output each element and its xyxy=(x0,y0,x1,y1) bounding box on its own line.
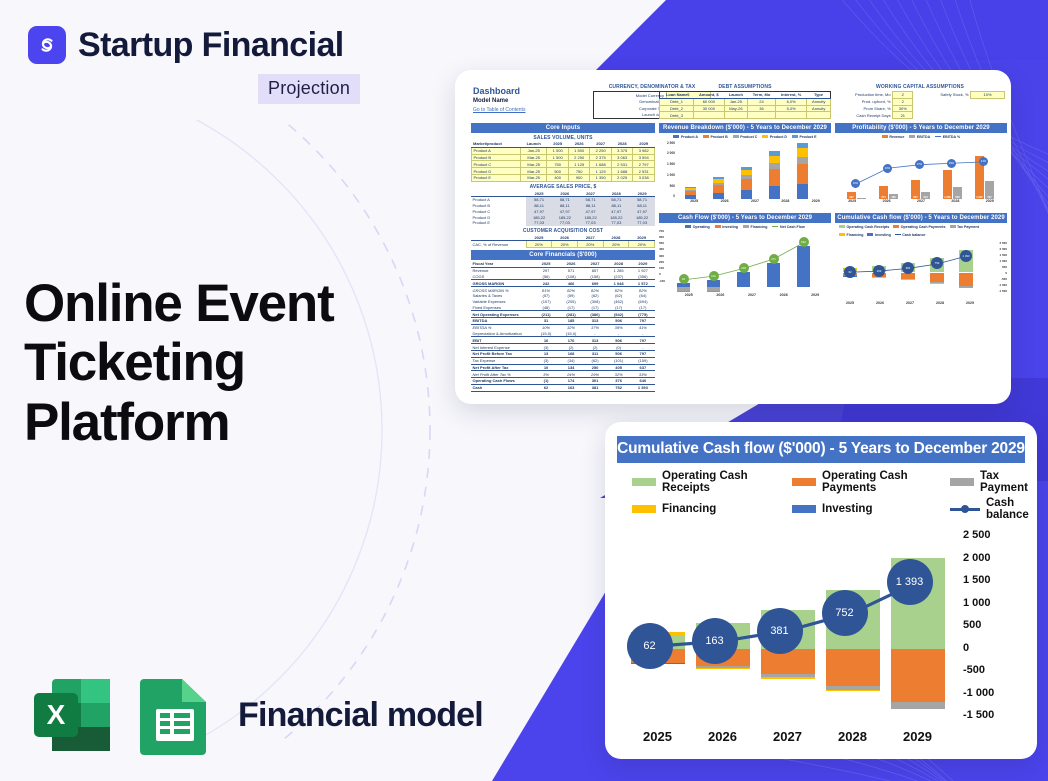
sales-volume-table: Market/product Launch 20252026 20272028 … xyxy=(471,141,655,182)
x-tick-label: 2029 xyxy=(891,729,945,744)
data-label-bubble: 640 xyxy=(799,237,809,247)
chart-y-axis: 2 5002 0001 5001 0005000-500-1 000-1 500 xyxy=(953,529,1025,721)
table-row: Debt_160 000 Jan-2524 6,0%Annuity xyxy=(660,98,831,105)
table-row: Cash621633817521 393 xyxy=(471,384,655,391)
bar-segment xyxy=(713,193,724,199)
x-tick-label: 2026 xyxy=(696,729,750,744)
profitability-chart[interactable]: Profitability ($'000) - 5 Years to Decem… xyxy=(835,123,1007,203)
bar-stack xyxy=(741,167,752,199)
table-row: Prod. upfront, %2 xyxy=(835,98,1005,105)
bar-segment xyxy=(891,702,945,710)
dashboard-title: Dashboard xyxy=(473,86,520,96)
microsoft-excel-icon: X xyxy=(26,669,118,761)
table-row: Net Profit After Tax10134250405637 xyxy=(471,364,655,371)
chart-legend: Operating Cash Receipts Operating Cash P… xyxy=(632,470,1025,521)
data-label-bubble: 381 xyxy=(902,262,914,274)
table-row: Operating Cash Flows(1)174301376640 xyxy=(471,378,655,385)
y-tick-label: 500 xyxy=(963,619,1025,631)
dashboard-preview-card[interactable]: Dashboard Model Name Go to Table of Cont… xyxy=(455,70,1011,404)
data-label-bubble: 163 xyxy=(873,265,885,277)
bar-segment xyxy=(797,164,808,184)
cumulative-cash-flow-card[interactable]: Cumulative Cash flow ($'000) - 5 Years t… xyxy=(605,422,1037,759)
spiral-logo-icon xyxy=(28,26,66,64)
table-row: Product E77,0377,0377,0377,0377,03 xyxy=(471,220,655,226)
revenue-breakdown-plot: 2 500 2 000 1 500 1 000 500 0 xyxy=(659,141,831,199)
bar-stack xyxy=(797,143,808,199)
y-tick-label: 1 500 xyxy=(963,574,1025,586)
revenue-breakdown-legend: Product A Product B Product C Product D … xyxy=(659,135,831,139)
debt-section-header: DEBT ASSUMPTIONS xyxy=(659,84,831,90)
legend-item-tax-payment: Tax Payment xyxy=(950,470,1029,494)
cash-flow-chart[interactable]: Cash Flow ($'000) - 5 Years to December … xyxy=(659,213,831,297)
data-label-bubble: 32% xyxy=(883,164,892,173)
svg-text:X: X xyxy=(47,699,66,730)
table-row: Prom Share, %30% xyxy=(835,105,1005,112)
legend-item-cash-balance: Cash balance xyxy=(950,497,1029,521)
bar-segment xyxy=(769,156,780,164)
profitability-legend: Revenue EBITDA EBITDA % xyxy=(835,135,1007,139)
debt-assumptions-block: DEBT ASSUMPTIONS Loan NameAmount, $ Laun… xyxy=(659,84,831,119)
table-row: Product AJan-251 0001 5002 2503 3753 982 xyxy=(472,147,655,154)
core-inputs-block: Core Inputs SALES VOLUME, UNITS Market/p… xyxy=(471,123,655,248)
data-point-label: 381 xyxy=(757,608,803,654)
bar-segment xyxy=(741,190,752,198)
data-label-bubble: 371 xyxy=(769,254,779,264)
revenue-breakdown-xaxis: 20252026 20272028 2029 xyxy=(659,199,831,203)
legend-item-investing: Investing xyxy=(792,497,950,521)
table-row: Product EMar-254009001 3502 0253 038 xyxy=(472,174,655,181)
table-row: Production time, Mo2 Safety Stock, %10% xyxy=(835,92,1005,99)
y-tick-label: -1 000 xyxy=(963,687,1025,699)
table-row: Net Operating Expenses(211)(281)(386)(54… xyxy=(471,311,655,318)
financial-model-label: Financial model xyxy=(238,696,483,735)
bar-stack xyxy=(769,151,780,198)
table-row: GROSS MARGIN2424666991 0481 572 xyxy=(471,280,655,287)
toc-link[interactable]: Go to Table of Contents xyxy=(473,107,525,113)
y-tick-label: 0 xyxy=(963,642,1025,654)
revenue-breakdown-title: Revenue Breakdown ($'000) - 5 Years to D… xyxy=(659,123,831,133)
table-header-row: Loan NameAmount, $ LaunchTerm, Mo Intere… xyxy=(660,92,831,99)
google-sheets-icon xyxy=(136,669,214,761)
data-label-bubble: 218 xyxy=(739,263,749,273)
working-capital-block: WORKING CAPITAL ASSUMPTIONS Production t… xyxy=(835,84,1005,119)
bar-segment xyxy=(826,690,880,691)
page-title: Online Event Ticketing Platform xyxy=(24,274,424,452)
table-row: EBITDA31185313506797 xyxy=(471,318,655,325)
x-tick-label: 2027 xyxy=(761,729,815,744)
table-row: Product BMar-251 5002 2502 3753 0633 594 xyxy=(472,154,655,161)
table-row: Debt_3 xyxy=(660,112,831,119)
debt-table: Loan NameAmount, $ LaunchTerm, Mo Intere… xyxy=(659,91,831,119)
wc-section-header: WORKING CAPITAL ASSUMPTIONS xyxy=(835,84,1005,90)
table-row: Cash Receipt Days21 xyxy=(835,112,1005,119)
chart-x-axis: 20252026202720282029 xyxy=(625,725,950,747)
bar-segment xyxy=(826,649,880,686)
data-label-bubble: 1 393 xyxy=(960,250,972,262)
bar-segment xyxy=(696,668,750,669)
bar-stack xyxy=(685,187,696,199)
table-row: Net Profit After Tax %3%24%29%32%33% xyxy=(471,371,655,378)
table-row: Product DMar-255007501 1251 6882 531 xyxy=(472,168,655,175)
bar-segment xyxy=(713,185,724,192)
y-tick-label: 2 000 xyxy=(963,552,1025,564)
table-row: Net Interest Expense(3)(2)(2)(0)- xyxy=(471,344,655,351)
core-financials-block: Core Financials ($'000) Fiscal Year 2025… xyxy=(471,250,655,392)
brand-name: Startup Financial xyxy=(78,28,344,62)
table-row: Product CMar-257501 1251 6882 5312 797 xyxy=(472,161,655,168)
table-row: CAC, % of Revenue 20%20% 20%20% 20% xyxy=(471,241,655,248)
bar-stack xyxy=(713,177,724,198)
bar-segment xyxy=(685,195,696,198)
cash-flow-legend: Operating Investing Financing Net Cash F… xyxy=(659,225,831,229)
bar-segment xyxy=(769,186,780,198)
cash-flow-plot: 7006005004003002001000-10062101218371640 xyxy=(659,231,831,293)
x-tick-label: 2028 xyxy=(826,729,880,744)
legend-item-operating-payments: Operating Cash Payments xyxy=(792,470,950,494)
legend-item-operating-receipts: Operating Cash Receipts xyxy=(632,470,792,494)
data-point-label: 62 xyxy=(627,623,673,669)
data-point-label: 1 393 xyxy=(887,559,933,605)
data-point-label: 163 xyxy=(692,618,738,664)
data-point-label: 752 xyxy=(822,590,868,636)
chart-plot-area: 621633817521 393 2 5002 0001 5001 000500… xyxy=(617,529,1025,747)
bar-segment xyxy=(797,157,808,164)
profitability-plot: 2973110%57118532%85731337%1 28550639%1 9… xyxy=(835,141,1007,199)
y-tick-label: -1 500 xyxy=(963,709,1025,721)
cac-table: 20252026 20272028 2029 CAC, % of Revenue… xyxy=(471,234,655,248)
bar-segment xyxy=(761,677,815,679)
data-label-bubble: 62 xyxy=(679,274,689,284)
chart-title: Cumulative Cash flow ($'000) - 5 Years t… xyxy=(617,436,1025,463)
x-tick-label: 2025 xyxy=(631,729,685,744)
bar-segment xyxy=(797,184,808,199)
data-label-bubble: 62 xyxy=(844,266,856,278)
cash-flow-title: Cash Flow ($'000) - 5 Years to December … xyxy=(659,213,831,223)
core-inputs-band: Core Inputs xyxy=(471,123,655,133)
data-label-bubble: 101 xyxy=(709,271,719,281)
working-capital-table: Production time, Mo2 Safety Stock, %10% … xyxy=(835,91,1005,119)
table-row: Net Profit Before Tax13168311506797 xyxy=(471,350,655,357)
dashboard-sheet: Dashboard Model Name Go to Table of Cont… xyxy=(463,80,1003,394)
table-row: Debt_230 000 May-2636 5,0%Annuity xyxy=(660,105,831,112)
dashboard-model-name: Model Name xyxy=(473,98,508,104)
y-tick-label: -500 xyxy=(963,664,1025,676)
bar-segment xyxy=(741,179,752,190)
revenue-breakdown-chart[interactable]: Revenue Breakdown ($'000) - 5 Years to D… xyxy=(659,123,831,203)
bar-segment xyxy=(891,649,945,702)
legend-item-financing: Financing xyxy=(632,497,792,521)
bar-segment xyxy=(797,148,808,157)
avg-price-table: 20252026 20272028 2029 Product A58,7158,… xyxy=(471,190,655,226)
footer-formats: X Financial model xyxy=(26,669,483,761)
y-tick-label: 2 500 xyxy=(963,529,1025,541)
cumulative-mini-plot: 2 5002 0001 5001 0005000-500-1 000-1 500… xyxy=(835,239,1007,301)
table-row: EBIT16170313506797 xyxy=(471,337,655,344)
core-financials-band: Core Financials ($'000) xyxy=(471,250,655,260)
table-row: Tax Expense(3)(34)(62)(101)(159) xyxy=(471,357,655,364)
data-label-bubble: 39% xyxy=(947,159,956,168)
bar-segment xyxy=(769,169,780,186)
y-tick-label: 1 000 xyxy=(963,597,1025,609)
profitability-title: Profitability ($'000) - 5 Years to Decem… xyxy=(835,123,1007,133)
brand-logo: Startup Financial xyxy=(28,26,344,64)
brand-subtitle: Projection xyxy=(258,74,360,104)
core-financials-table: Fiscal Year 20252026 20272028 2029 Reven… xyxy=(471,261,655,392)
